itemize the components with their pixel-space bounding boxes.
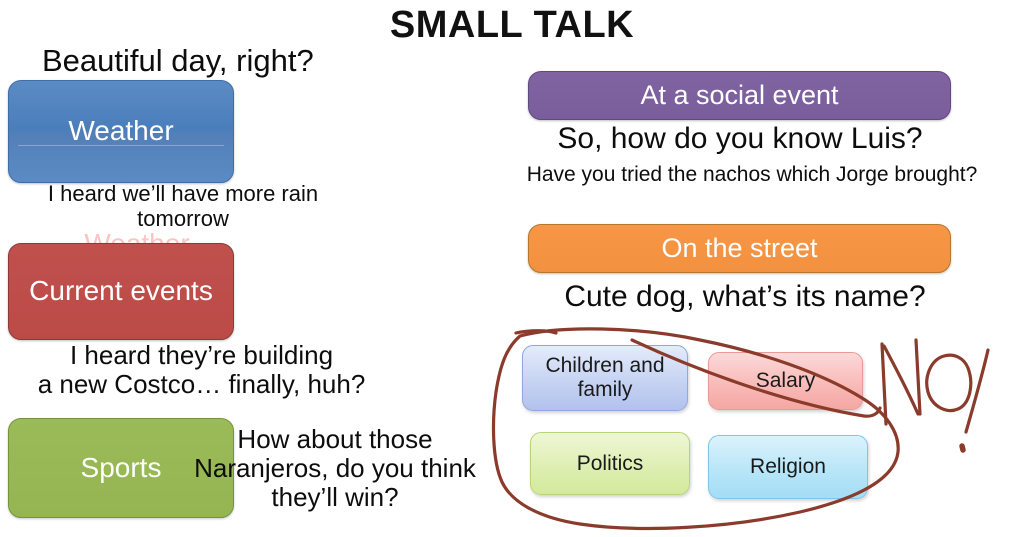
taboo-box-salary[interactable]: Salary: [708, 352, 863, 410]
street-example-large: Cute dog, what’s its name?: [510, 280, 980, 314]
category-pill-social-event-label: At a social event: [640, 80, 838, 111]
category-pill-sports-label: Sports: [81, 452, 162, 484]
taboo-box-politics-label: Politics: [577, 452, 644, 476]
ink-exclamation-stroke: [966, 350, 988, 432]
taboo-box-children-and-family-label: Children and family: [523, 354, 687, 401]
category-pill-current-events[interactable]: Current events: [8, 243, 234, 340]
taboo-box-religion-label: Religion: [750, 455, 826, 479]
slide-canvas: SMALL TALK Beautiful day, right? Weather…: [0, 0, 1024, 537]
category-pill-weather-label: Weather: [68, 115, 173, 147]
current-events-example-text: I heard they’re building a new Costco… f…: [14, 341, 389, 399]
category-pill-weather[interactable]: Weather: [8, 80, 234, 183]
ink-exclamation-dot: [962, 446, 963, 450]
category-pill-social-event[interactable]: At a social event: [528, 71, 951, 120]
ink-hook-stroke: [516, 331, 556, 333]
ink-letter-n: [882, 340, 920, 424]
taboo-box-politics[interactable]: Politics: [530, 432, 690, 495]
weather-example-text: I heard we’ll have more rain tomorrow: [18, 182, 348, 231]
taboo-box-religion[interactable]: Religion: [708, 435, 868, 499]
sports-example-text: How about those Naranjeros, do you think…: [175, 425, 495, 512]
social-event-example-large: So, how do you know Luis?: [510, 122, 970, 156]
category-pill-current-events-label: Current events: [29, 275, 213, 307]
ink-letter-o: [927, 355, 971, 410]
category-pill-street[interactable]: On the street: [528, 224, 951, 273]
social-event-example-small: Have you tried the nachos which Jorge br…: [484, 163, 1020, 187]
taboo-box-salary-label: Salary: [756, 369, 816, 393]
weather-prompt-text: Beautiful day, right?: [42, 44, 382, 79]
category-pill-street-label: On the street: [661, 233, 817, 264]
taboo-box-children-and-family[interactable]: Children and family: [522, 345, 688, 411]
page-title: SMALL TALK: [0, 4, 1024, 47]
